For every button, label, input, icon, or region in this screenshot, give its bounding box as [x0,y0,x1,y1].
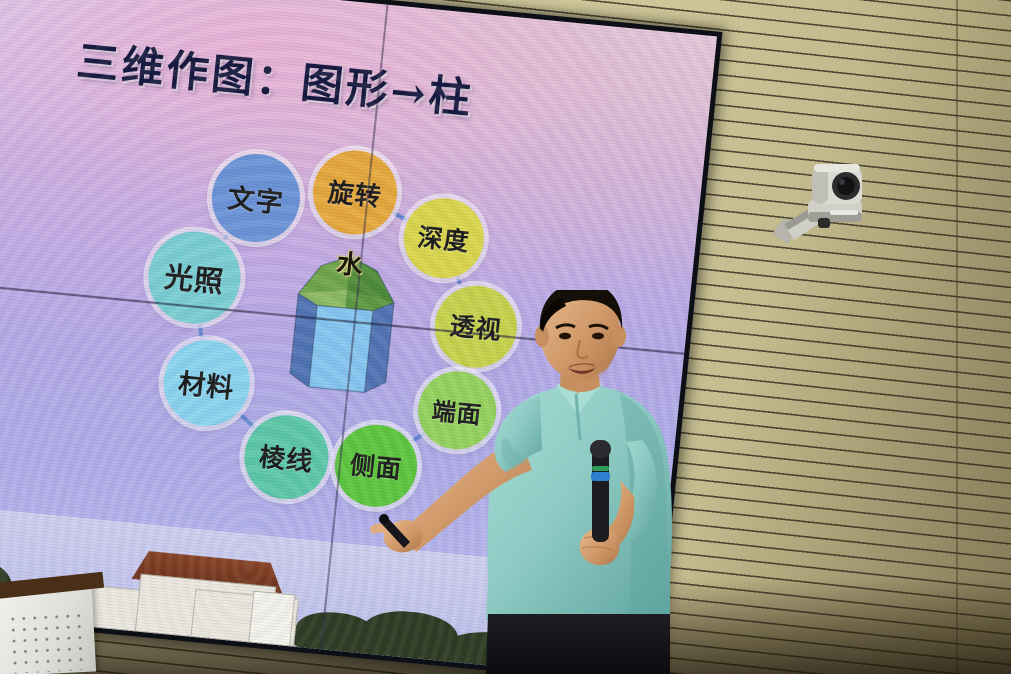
prism-label: 水 [335,243,365,282]
diagram-node-0[interactable]: 旋转 [309,147,401,239]
diagram-link [456,277,462,287]
wall-speaker-panel [0,587,96,674]
diagram-node-label: 材料 [177,361,237,405]
diagram-node-label: 光照 [162,254,226,302]
presenter-svg [370,290,790,674]
screenshot-root: 三维作图：图形→柱 [0,0,1011,674]
diagram-link [330,460,333,464]
diagram-node-label: 深度 [416,218,471,259]
campus-building [248,591,295,647]
diagram-link [198,325,203,339]
diagram-link [223,233,230,240]
diagram-link [238,412,255,428]
diagram-node-7[interactable]: 光照 [144,227,245,327]
wall-seam [956,0,958,674]
diagram-node-label: 旋转 [326,172,384,214]
diagram-node-label: 棱线 [258,436,316,478]
presenter-pants [486,614,670,674]
ptz-camera [768,162,868,268]
diagram-link [393,211,407,221]
diagram-node-1[interactable]: 深度 [400,195,488,282]
microphone [590,440,611,542]
presenter [370,290,790,674]
speaker-perforations [7,610,88,674]
ptz-camera-svg [768,162,868,268]
diagram-node-label: 文字 [226,176,286,220]
diagram-node-8[interactable]: 文字 [208,150,305,246]
